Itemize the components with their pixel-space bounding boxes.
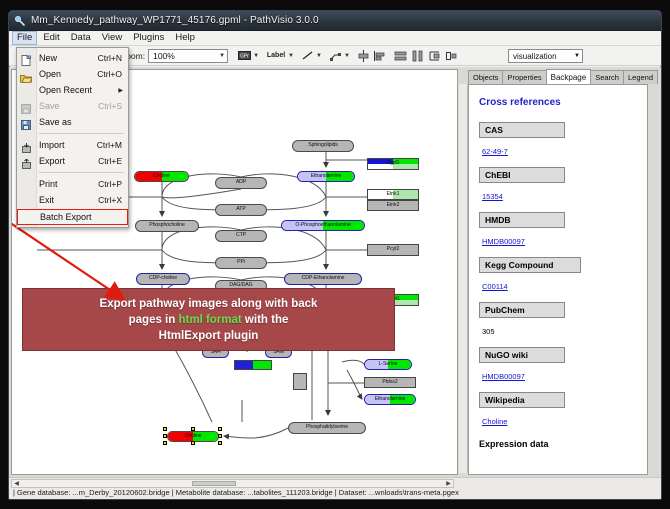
datanode-chevron-down-icon[interactable]: ▼ xyxy=(253,53,259,59)
statusbar: ◀ ▶ | Gene database: ...m_Derby_20120602… xyxy=(9,477,661,499)
line-chevron-down-icon[interactable]: ▼ xyxy=(316,53,322,59)
tab-search[interactable]: Search xyxy=(590,70,624,84)
menu-item-print[interactable]: Print Ctrl+P xyxy=(17,176,128,192)
menu-item-exit[interactable]: Exit Ctrl+X xyxy=(17,192,128,208)
datanode-button[interactable]: GPr xyxy=(237,48,252,63)
stack-vertical-icon[interactable] xyxy=(410,48,425,63)
chevron-right-icon: ▶ xyxy=(118,87,128,94)
resize-handle-w[interactable] xyxy=(163,434,167,438)
menu-item-shortcut: Ctrl+S xyxy=(98,101,128,111)
menu-item-label: Open xyxy=(39,69,97,79)
menu-help[interactable]: Help xyxy=(170,31,200,45)
scroll-left-arrow-icon[interactable]: ◀ xyxy=(12,480,21,487)
ungroup-icon[interactable] xyxy=(444,48,459,63)
line-icon[interactable] xyxy=(300,48,315,63)
group-icon[interactable] xyxy=(427,48,442,63)
menu-view[interactable]: View xyxy=(97,31,127,45)
menu-item-label: Batch Export xyxy=(40,212,127,222)
app-icon xyxy=(14,15,26,27)
menu-separator xyxy=(39,133,124,134)
stack-horizontal-icon[interactable] xyxy=(393,48,408,63)
xref-link-hmdb[interactable]: HMDB00097 xyxy=(482,237,525,246)
xref-header-chebi: ChEBI xyxy=(479,167,565,183)
interaction-chevron-down-icon[interactable]: ▼ xyxy=(344,53,350,59)
xref-link-nugo-wiki[interactable]: HMDB00097 xyxy=(482,372,525,381)
svg-text:GPr: GPr xyxy=(240,54,250,60)
xref-header-wikipedia: Wikipedia xyxy=(479,392,565,408)
resize-handle-se[interactable] xyxy=(218,441,222,445)
menu-file[interactable]: File xyxy=(12,31,37,45)
menu-item-shortcut: Ctrl+P xyxy=(98,179,128,189)
resize-handle-ne[interactable] xyxy=(218,427,222,431)
visualization-value: visualization xyxy=(513,52,557,61)
window-titlebar: Mm_Kennedy_pathway_WP1771_45176.gpml - P… xyxy=(9,11,661,31)
tab-objects[interactable]: Objects xyxy=(468,70,503,84)
export-icon xyxy=(22,156,31,174)
align-left-icon[interactable] xyxy=(373,48,388,63)
label-button-text: Label xyxy=(267,52,285,59)
panel-tabstrip: Objects Properties Backpage Search Legen… xyxy=(459,69,659,84)
backpage-content: Cross references CAS 62-49-7 ChEBI 15354… xyxy=(468,84,648,475)
xref-value-pubchem: 305 xyxy=(482,327,495,336)
menu-item-save-as[interactable]: Save as xyxy=(17,114,128,130)
menu-item-label: Save as xyxy=(39,117,128,127)
zoom-combobox[interactable]: 100% ▼ xyxy=(148,49,228,63)
save-as-icon xyxy=(21,117,31,135)
menu-item-shortcut: Ctrl+X xyxy=(98,195,128,205)
xref-link-kegg-compound[interactable]: C00114 xyxy=(482,282,508,291)
chevron-down-icon: ▼ xyxy=(574,53,580,59)
zoom-value: 100% xyxy=(153,51,175,61)
selected-node-group[interactable]: Choline xyxy=(167,431,219,442)
menu-item-label: Print xyxy=(39,179,98,189)
cross-references-heading: Cross references xyxy=(479,97,637,108)
chevron-down-icon: ▼ xyxy=(219,53,225,59)
menu-item-shortcut: Ctrl+N xyxy=(98,53,128,63)
expression-data-heading: Expression data xyxy=(479,439,637,449)
align-center-icon[interactable] xyxy=(356,48,371,63)
menu-item-label: Open Recent xyxy=(39,85,118,95)
menu-separator xyxy=(39,172,124,173)
tab-backpage[interactable]: Backpage xyxy=(546,69,592,84)
menu-plugins[interactable]: Plugins xyxy=(128,31,169,45)
file-menu-dropdown[interactable]: New Ctrl+N Open Ctrl+O Open Recent ▶ Sav… xyxy=(16,47,129,228)
pathvisio-window: Mm_Kennedy_pathway_WP1771_45176.gpml - P… xyxy=(8,10,662,500)
menu-item-import[interactable]: Import Ctrl+M xyxy=(17,137,128,153)
resize-handle-n[interactable] xyxy=(191,427,195,431)
resize-handle-e[interactable] xyxy=(218,434,222,438)
scroll-right-arrow-icon[interactable]: ▶ xyxy=(444,480,453,487)
menu-item-save: Save Ctrl+S xyxy=(17,98,128,114)
menu-item-batch-export[interactable]: Batch Export xyxy=(17,209,128,225)
xref-link-chebi[interactable]: 15354 xyxy=(482,192,503,201)
panel-left-divider[interactable] xyxy=(459,84,468,473)
xref-header-cas: CAS xyxy=(479,122,565,138)
window-title: Mm_Kennedy_pathway_WP1771_45176.gpml - P… xyxy=(31,15,319,26)
menu-item-label: Save xyxy=(39,101,98,111)
menu-item-label: Import xyxy=(39,140,97,150)
menu-item-open-recent[interactable]: Open Recent ▶ xyxy=(17,82,128,98)
canvas-horizontal-scrollbar[interactable]: ◀ ▶ xyxy=(11,479,454,488)
node-label: Choline xyxy=(185,434,202,439)
status-text: | Gene database: ...m_Derby_20120602.bri… xyxy=(13,488,459,497)
menu-edit[interactable]: Edit xyxy=(38,31,64,45)
label-button[interactable]: Label xyxy=(265,48,287,63)
menu-item-label: New xyxy=(39,53,98,63)
xref-header-kegg-compound: Kegg Compound xyxy=(479,257,581,273)
menu-item-open[interactable]: Open Ctrl+O xyxy=(17,66,128,82)
visualization-combobox[interactable]: visualization ▼ xyxy=(508,49,583,63)
side-panel: Objects Properties Backpage Search Legen… xyxy=(459,69,659,475)
resize-handle-sw[interactable] xyxy=(163,441,167,445)
xref-link-wikipedia[interactable]: Choline xyxy=(482,417,507,426)
menu-item-new[interactable]: New Ctrl+N xyxy=(17,50,128,66)
menu-item-label: Export xyxy=(39,156,98,166)
interaction-icon[interactable] xyxy=(328,48,343,63)
resize-handle-s[interactable] xyxy=(191,441,195,445)
resize-handle-nw[interactable] xyxy=(163,427,167,431)
tab-properties[interactable]: Properties xyxy=(502,70,546,84)
xref-header-nugo-wiki: NuGO wiki xyxy=(479,347,565,363)
scrollbar-thumb[interactable] xyxy=(192,481,236,486)
menu-item-shortcut: Ctrl+M xyxy=(97,140,128,150)
menu-item-shortcut: Ctrl+O xyxy=(97,69,128,79)
label-chevron-down-icon[interactable]: ▼ xyxy=(288,53,294,59)
desktop-background: Mm_Kennedy_pathway_WP1771_45176.gpml - P… xyxy=(0,0,670,509)
menu-item-shortcut: Ctrl+E xyxy=(98,156,128,166)
tab-legend[interactable]: Legend xyxy=(623,70,658,84)
xref-header-pubchem: PubChem xyxy=(479,302,565,318)
menu-data[interactable]: Data xyxy=(66,31,96,45)
menu-item-export[interactable]: Export Ctrl+E xyxy=(17,153,128,169)
menubar: File Edit Data View Plugins Help xyxy=(9,31,661,46)
xref-header-hmdb: HMDB xyxy=(479,212,565,228)
xref-link-cas[interactable]: 62-49-7 xyxy=(482,147,508,156)
menu-item-label: Exit xyxy=(39,195,98,205)
